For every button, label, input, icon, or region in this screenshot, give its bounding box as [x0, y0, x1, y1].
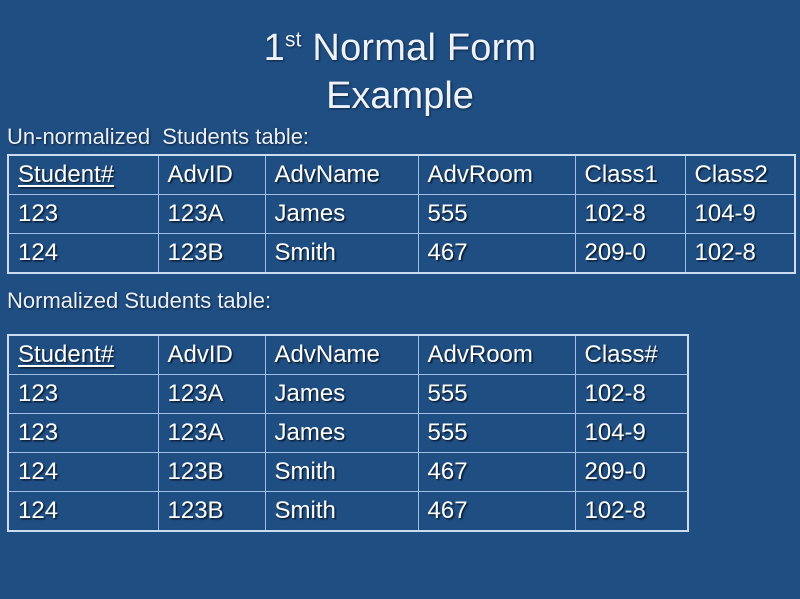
table-row: 123 123A James 555 104-9	[8, 414, 688, 453]
column-header-advroom: AdvRoom	[418, 335, 575, 375]
cell-student-number: 123	[8, 375, 158, 414]
cell-student-number: 124	[8, 234, 158, 274]
cell-class-number: 102-8	[575, 492, 688, 532]
title-ordinal-superscript: st	[285, 28, 302, 51]
cell-student-number: 123	[8, 195, 158, 234]
cell-advid: 123B	[158, 453, 265, 492]
cell-class-number: 209-0	[575, 453, 688, 492]
column-header-student-number: Student#	[8, 155, 158, 195]
cell-student-number: 124	[8, 492, 158, 532]
caption-unnormalized-table: Un-normalized Students table:	[0, 124, 800, 150]
cell-advid: 123B	[158, 234, 265, 274]
title-number: 1	[264, 27, 285, 69]
column-header-advroom: AdvRoom	[418, 155, 575, 195]
cell-class1: 102-8	[575, 195, 685, 234]
cell-advroom: 467	[418, 492, 575, 532]
cell-class-number: 102-8	[575, 375, 688, 414]
column-header-student-number-label: Student#	[18, 341, 114, 368]
cell-advname: Smith	[265, 492, 418, 532]
cell-advroom: 555	[418, 414, 575, 453]
cell-advname: James	[265, 195, 418, 234]
table-row: 124 123B Smith 467 102-8	[8, 492, 688, 532]
cell-advid: 123A	[158, 375, 265, 414]
table-row: 124 123B Smith 467 209-0 102-8	[8, 234, 795, 274]
unnormalized-students-table: Student# AdvID AdvName AdvRoom Class1 Cl…	[7, 154, 796, 274]
cell-class2: 104-9	[685, 195, 795, 234]
slide-canvas: { "slide": { "background_color": "#1f4e8…	[0, 0, 800, 599]
cell-advname: Smith	[265, 234, 418, 274]
table-body: Student# AdvID AdvName AdvRoom Class# 12…	[8, 335, 688, 531]
cell-class2: 102-8	[685, 234, 795, 274]
column-header-student-number-label: Student#	[18, 161, 114, 188]
table-row: 124 123B Smith 467 209-0	[8, 453, 688, 492]
cell-class1: 209-0	[575, 234, 685, 274]
cell-student-number: 124	[8, 453, 158, 492]
column-header-advname: AdvName	[265, 155, 418, 195]
column-header-student-number: Student#	[8, 335, 158, 375]
caption-normalized-table: Normalized Students table:	[0, 288, 800, 314]
table-header-row: Student# AdvID AdvName AdvRoom Class1 Cl…	[8, 155, 795, 195]
column-header-advid: AdvID	[158, 335, 265, 375]
table-row: 123 123A James 555 102-8	[8, 375, 688, 414]
page-subtitle: Example	[0, 72, 800, 120]
column-header-advid: AdvID	[158, 155, 265, 195]
page-title: 1st Normal Form	[0, 0, 800, 72]
column-header-class-number: Class#	[575, 335, 688, 375]
table-body: Student# AdvID AdvName AdvRoom Class1 Cl…	[8, 155, 795, 273]
cell-student-number: 123	[8, 414, 158, 453]
table-header-row: Student# AdvID AdvName AdvRoom Class#	[8, 335, 688, 375]
table-row: 123 123A James 555 102-8 104-9	[8, 195, 795, 234]
cell-advroom: 467	[418, 453, 575, 492]
cell-advroom: 467	[418, 234, 575, 274]
column-header-advname: AdvName	[265, 335, 418, 375]
cell-advid: 123B	[158, 492, 265, 532]
column-header-class2: Class2	[685, 155, 795, 195]
cell-advname: James	[265, 414, 418, 453]
normalized-students-table: Student# AdvID AdvName AdvRoom Class# 12…	[7, 334, 689, 532]
title-rest: Normal Form	[302, 27, 537, 69]
cell-advname: Smith	[265, 453, 418, 492]
cell-advname: James	[265, 375, 418, 414]
cell-class-number: 104-9	[575, 414, 688, 453]
cell-advid: 123A	[158, 195, 265, 234]
cell-advroom: 555	[418, 375, 575, 414]
column-header-class1: Class1	[575, 155, 685, 195]
cell-advroom: 555	[418, 195, 575, 234]
cell-advid: 123A	[158, 414, 265, 453]
